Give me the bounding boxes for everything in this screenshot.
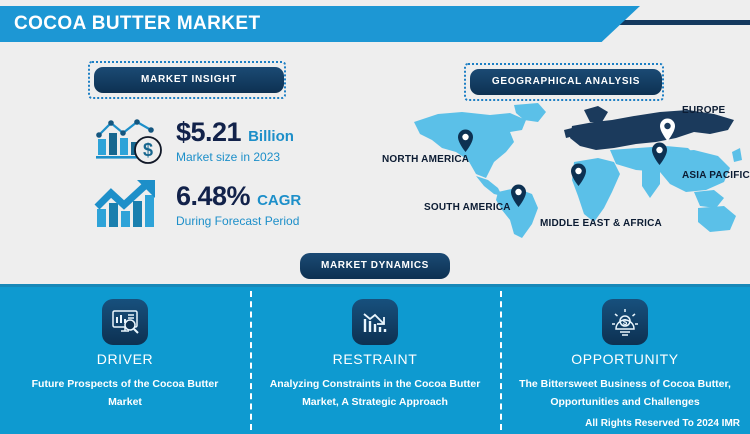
map-region-scandinavia — [584, 106, 608, 122]
map-region-india — [642, 170, 660, 198]
dynamics-description-restraint: Analyzing Constraints in the Cocoa Butte… — [250, 375, 500, 412]
map-label-south-america: SOUTH AMERICA — [424, 202, 511, 213]
cagr-text: 6.48% CAGR During Forecast Period — [176, 182, 301, 227]
monitor-analytics-search-icon — [102, 299, 148, 345]
map-region-japan — [732, 148, 742, 162]
dynamics-column-driver: DRIVER Future Prospects of the Cocoa But… — [0, 287, 250, 434]
growth-arrow-icon — [92, 176, 170, 234]
market-size-text: $5.21 Billion Market size in 2023 — [176, 118, 294, 163]
dynamics-title-restraint: RESTRAINT — [250, 351, 500, 367]
map-region-southeast-asia — [694, 190, 724, 208]
dynamics-description-driver: Future Prospects of the Cocoa Butter Mar… — [0, 375, 250, 412]
market-size-stat: $ $5.21 Billion Market size in 2023 — [92, 112, 294, 170]
dynamics-column-opportunity: $ OPPORTUNITY The Bittersweet Business o… — [500, 287, 750, 434]
lightbulb-dollar-icon: $ — [602, 299, 648, 345]
market-dynamics-section: DRIVER Future Prospects of the Cocoa But… — [0, 284, 750, 434]
footer-copyright: All Rights Reserved To 2024 IMR — [585, 418, 740, 429]
svg-text:$: $ — [143, 140, 153, 160]
cagr-stat: 6.48% CAGR During Forecast Period — [92, 176, 301, 234]
cagr-value: 6.48% — [176, 181, 250, 211]
page-header: COCOA BUTTER MARKET — [0, 6, 750, 42]
cagr-caption: During Forecast Period — [176, 214, 301, 228]
page-title: COCOA BUTTER MARKET — [14, 6, 261, 42]
market-size-caption: Market size in 2023 — [176, 150, 294, 164]
dynamics-column-restraint: RESTRAINT Analyzing Constraints in the C… — [250, 287, 500, 434]
market-insight-badge-label: MARKET INSIGHT — [94, 67, 284, 93]
market-size-unit: Billion — [248, 128, 294, 145]
svg-text:$: $ — [623, 318, 628, 327]
dynamics-title-driver: DRIVER — [0, 351, 250, 367]
map-label-europe: EUROPE — [682, 105, 725, 116]
map-label-north-america: NORTH AMERICA — [382, 154, 469, 165]
dynamics-title-opportunity: OPPORTUNITY — [500, 351, 750, 367]
world-map: NORTH AMERICA SOUTH AMERICA MIDDLE EAST … — [398, 100, 746, 242]
geographical-analysis-badge: GEOGRAPHICAL ANALYSIS — [464, 63, 664, 101]
cagr-value-row: 6.48% CAGR — [176, 182, 301, 210]
market-size-value-row: $5.21 Billion — [176, 118, 294, 146]
market-dynamics-badge: MARKET DYNAMICS — [300, 253, 450, 279]
market-insight-badge: MARKET INSIGHT — [88, 61, 286, 99]
market-size-value: $5.21 — [176, 117, 241, 147]
map-label-middle-east-africa: MIDDLE EAST & AFRICA — [540, 218, 662, 229]
bar-chart-dollar-icon: $ — [92, 112, 170, 170]
geographical-analysis-badge-label: GEOGRAPHICAL ANALYSIS — [470, 69, 662, 95]
map-label-asia-pacific: ASIA PACIFIC — [682, 170, 750, 181]
cagr-unit: CAGR — [257, 192, 301, 209]
map-region-australia — [698, 206, 736, 232]
dynamics-description-opportunity: The Bittersweet Business of Cocoa Butter… — [500, 375, 750, 412]
declining-chart-icon — [352, 299, 398, 345]
